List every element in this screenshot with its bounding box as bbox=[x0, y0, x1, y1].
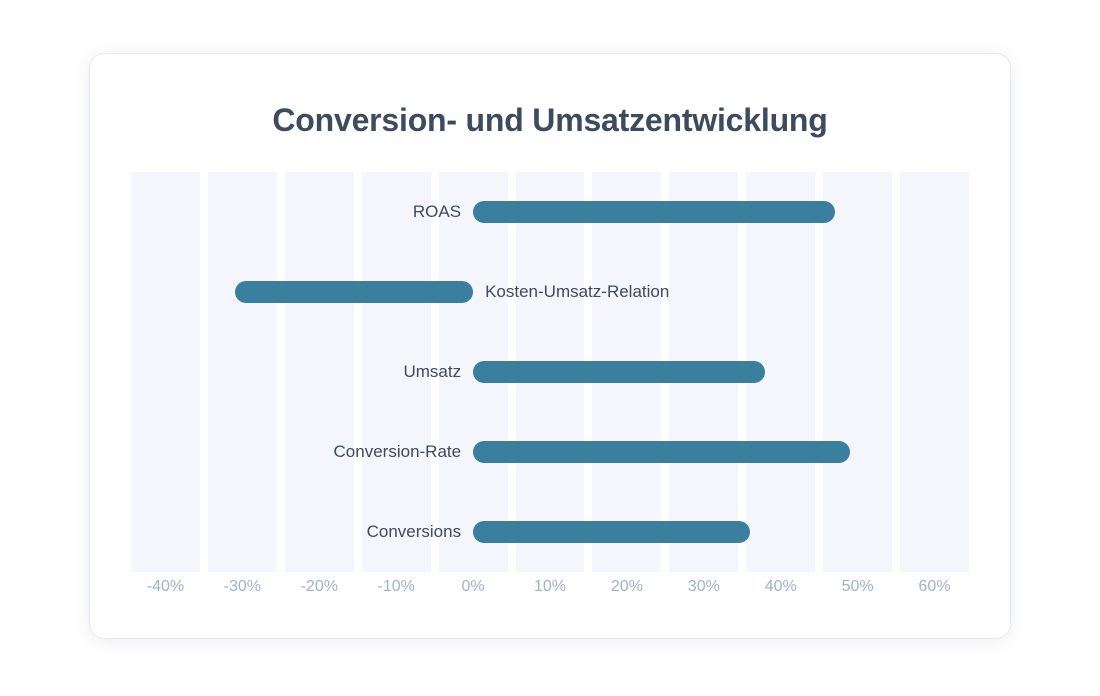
x-tick-label: -40% bbox=[147, 578, 184, 596]
bar-category-label: Conversion-Rate bbox=[334, 442, 462, 462]
x-tick-label: -30% bbox=[224, 578, 261, 596]
chart-card: Conversion- und Umsatzentwicklung ROASKo… bbox=[90, 54, 1010, 638]
bar[interactable] bbox=[473, 521, 750, 543]
bar-row: Conversions bbox=[127, 504, 973, 560]
bar-category-label: ROAS bbox=[413, 202, 461, 222]
bar-row: ROAS bbox=[127, 184, 973, 240]
x-tick-label: 50% bbox=[842, 578, 874, 596]
bar-category-label: Umsatz bbox=[403, 362, 461, 382]
page-title: Conversion- und Umsatzentwicklung bbox=[90, 102, 1010, 139]
chart-page: Conversion- und Umsatzentwicklung ROASKo… bbox=[0, 0, 1100, 696]
x-tick-label: -10% bbox=[377, 578, 414, 596]
bar[interactable] bbox=[473, 441, 850, 463]
x-tick-label: 40% bbox=[765, 578, 797, 596]
x-axis: -40%-30%-20%-10%0%10%20%30%40%50%60% bbox=[127, 578, 973, 606]
bar-row: Kosten-Umsatz-Relation bbox=[127, 264, 973, 320]
x-tick-label: 60% bbox=[919, 578, 951, 596]
x-tick-label: 20% bbox=[611, 578, 643, 596]
bar-row: Umsatz bbox=[127, 344, 973, 400]
bar-row: Conversion-Rate bbox=[127, 424, 973, 480]
bar-series: ROASKosten-Umsatz-RelationUmsatzConversi… bbox=[127, 172, 973, 572]
x-tick-label: -20% bbox=[301, 578, 338, 596]
plot-area: ROASKosten-Umsatz-RelationUmsatzConversi… bbox=[127, 172, 973, 572]
bar[interactable] bbox=[473, 361, 765, 383]
x-tick-label: 0% bbox=[462, 578, 485, 596]
x-tick-label: 10% bbox=[534, 578, 566, 596]
bar[interactable] bbox=[473, 201, 834, 223]
bar[interactable] bbox=[235, 281, 473, 303]
x-tick-label: 30% bbox=[688, 578, 720, 596]
bar-category-label: Kosten-Umsatz-Relation bbox=[485, 282, 669, 302]
bar-category-label: Conversions bbox=[367, 522, 462, 542]
